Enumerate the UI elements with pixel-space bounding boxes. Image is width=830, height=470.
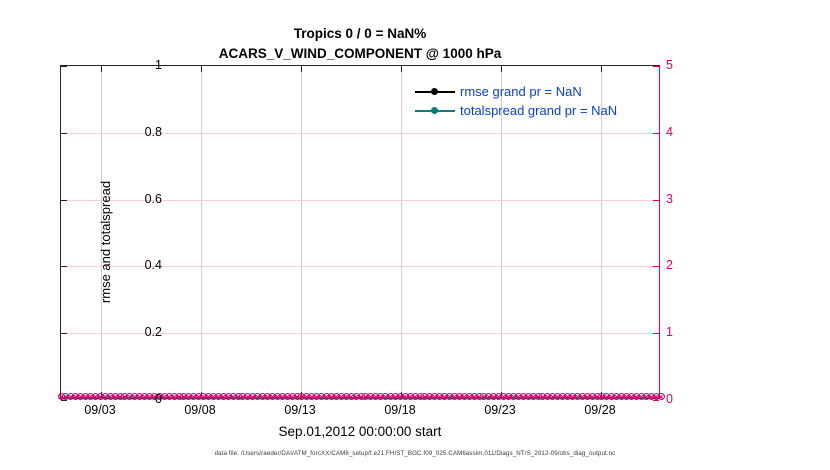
- y-axis-left-tick-label: 1: [155, 58, 162, 72]
- chart-title-line-1: Tropics 0 / 0 = NaN%: [60, 24, 660, 44]
- y-axis-left-tick: [61, 333, 67, 334]
- chart-title-block: Tropics 0 / 0 = NaN% ACARS_V_WIND_COMPON…: [60, 24, 660, 64]
- y-axis-right-tick-label: 0: [666, 392, 673, 406]
- y-axis-left-tick: [61, 266, 67, 267]
- x-axis-label: Sep.01,2012 00:00:00 start: [60, 424, 660, 439]
- y-axis-right-tick: [653, 66, 659, 67]
- chart-title-line-2: ACARS_V_WIND_COMPONENT @ 1000 hPa: [60, 44, 660, 64]
- x-axis-tick-label: 09/28: [584, 403, 615, 417]
- x-axis-tick-label: 09/23: [484, 403, 515, 417]
- vertical-gridline: [401, 66, 402, 398]
- legend-label-totalspread: totalspread grand pr = NaN: [460, 103, 617, 118]
- y-axis-left-tick: [61, 133, 67, 134]
- y-axis-left-tick-label: 0.8: [145, 125, 162, 139]
- y-axis-right-tick-label: 4: [666, 125, 673, 139]
- x-axis-tick-label: 09/03: [84, 403, 115, 417]
- y-axis-right-tick: [653, 400, 659, 401]
- legend-marker-totalspread-icon: [415, 105, 455, 117]
- vertical-gridline: [201, 66, 202, 398]
- y-axis-left-tick-label: 0.6: [145, 192, 162, 206]
- legend-label-rmse: rmse grand pr = NaN: [460, 84, 582, 99]
- chart-legend: rmse grand pr = NaN totalspread grand pr…: [415, 82, 617, 120]
- legend-marker-rmse-icon: [415, 86, 455, 98]
- x-axis-tick-label: 09/18: [384, 403, 415, 417]
- data-file-footer: data file: /Users/raeder/DAI/ATM_forcXX/…: [0, 450, 830, 457]
- y-axis-left-tick: [61, 400, 67, 401]
- chart-figure: Tropics 0 / 0 = NaN% ACARS_V_WIND_COMPON…: [0, 0, 830, 470]
- y-axis-left-tick: [61, 200, 67, 201]
- x-axis-top-tick: [301, 66, 302, 72]
- y-axis-left-tick-label: 0: [155, 392, 162, 406]
- x-axis-tick-label: 09/08: [184, 403, 215, 417]
- series-line-totalspread: [61, 397, 659, 399]
- y-axis-right-tick-label: 1: [666, 325, 673, 339]
- x-axis-tick-label: 09/13: [284, 403, 315, 417]
- x-axis-top-tick: [401, 66, 402, 72]
- legend-entry-rmse: rmse grand pr = NaN: [415, 82, 617, 101]
- y-axis-right-tick-label: 3: [666, 192, 673, 206]
- vertical-gridline: [301, 66, 302, 398]
- x-axis-top-tick: [601, 66, 602, 72]
- x-axis-top-tick: [201, 66, 202, 72]
- y-axis-left-label: rmse and totalspread: [98, 132, 113, 352]
- x-axis-top-tick: [101, 66, 102, 72]
- y-axis-right-tick: [653, 200, 659, 201]
- y-axis-left-tick-label: 0.4: [145, 258, 162, 272]
- y-axis-right-tick: [653, 133, 659, 134]
- y-axis-right-tick-label: 5: [666, 58, 673, 72]
- x-axis-top-tick: [501, 66, 502, 72]
- y-axis-right-tick-label: 2: [666, 258, 673, 272]
- y-axis-left-tick: [61, 66, 67, 67]
- y-axis-right-tick: [653, 333, 659, 334]
- y-axis-left-tick-label: 0.2: [145, 325, 162, 339]
- legend-entry-totalspread: totalspread grand pr = NaN: [415, 101, 617, 120]
- y-axis-right-tick: [653, 266, 659, 267]
